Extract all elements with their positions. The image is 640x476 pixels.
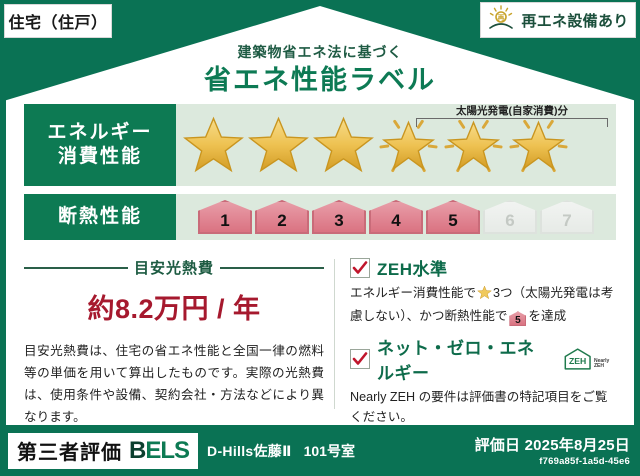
insulation-level-3: 3 [312,200,366,234]
insulation-performance-label: 断熱性能 [24,194,176,240]
renewable-equipment-label: 再エネ設備あり [521,10,628,31]
check-item-net-zero-energy: ネット・ゼロ・エネルギー ZEH Nearly ZEH Nearly ZEH の… [350,334,616,428]
insulation-performance-row: 断熱性能 1 2 3 4 5 6 7 [24,194,616,240]
insulation-levels-band: 1 2 3 4 5 6 7 [176,194,616,240]
lower-section: 目安光熱費 約8.2万円 / 年 目安光熱費は、住宅の省エネ性能と全国一律の燃料… [24,255,616,415]
rule-left [24,267,128,269]
star-icon-solar [507,113,570,177]
svg-text:再: 再 [498,14,505,22]
insulation-level-4: 4 [369,200,423,234]
house-type-label: 住宅（住戸） [8,9,107,33]
energy-star-group [176,113,616,177]
rating-rows: エネルギー 消費性能 太陽光発電(自家消費)分 [24,104,616,240]
check-body-part3: を達成 [528,309,566,323]
check-line: ネット・ゼロ・エネルギー ZEH Nearly ZEH [350,334,616,384]
utility-cost-note: 目安光熱費は、住宅の省エネ性能と全国一律の燃料等の単価を用いて算出したものです。… [24,340,324,428]
bels-letter-b: B [129,437,145,464]
energy-performance-label: エネルギー 消費性能 [24,104,176,186]
zeh-house-icon: ZEH Nearly ZEH [562,345,616,373]
insulation-level-1: 1 [198,200,252,234]
bels-energy-label: AQUA 住宅（住戸） 再 再エネ設備あり 建築物省エネ法に基づく 省エネ性能ラ… [0,0,640,476]
renewable-equipment-badge: 再 再エネ設備あり [480,2,636,38]
insulation-level-5: 5 [426,200,480,234]
evaluation-info: 評価日 2025年8月25日 f769a85f-1a5d-45e6 [475,434,630,467]
utility-cost-heading: 目安光熱費 [24,257,324,278]
check-line: ZEH水準 [350,255,616,280]
room-number: 101号室 [304,441,355,461]
star-icon [182,113,245,177]
checkbox-checked-icon [350,349,370,369]
building-name: D-Hills佐藤Ⅱ [207,441,292,461]
label-title: 省エネ性能ラベル [0,58,640,97]
house-type-badge: 住宅（住戸） [4,4,112,38]
evaluation-date-label: 評価日 [475,437,521,454]
sun-renewable-icon: 再 [487,5,515,36]
check-body: Nearly ZEH の要件は評価書の特記項目をご覧ください。 [350,387,616,428]
insulation-level-2: 2 [255,200,309,234]
star-icon [477,289,492,303]
vertical-divider [334,259,335,409]
check-title: ZEH水準 [377,255,448,280]
check-title: ネット・ゼロ・エネルギー [377,334,551,384]
star-icon-solar [377,113,440,177]
checkbox-checked-icon [350,258,370,278]
evaluation-date: 評価日 2025年8月25日 [475,434,630,455]
insulation-level-inline: 5 [509,311,526,326]
insulation-level-6: 6 [483,200,537,234]
evaluation-id: f769a85f-1a5d-45e6 [475,456,630,467]
energy-performance-row: エネルギー 消費性能 太陽光発電(自家消費)分 [24,104,616,186]
bels-letters-els: ELS [145,437,189,464]
utility-cost-label: 目安光熱費 [134,257,214,278]
utility-cost-block: 目安光熱費 約8.2万円 / 年 目安光熱費は、住宅の省エネ性能と全国一律の燃料… [24,255,324,415]
evaluation-date-value: 2025年8月25日 [525,437,630,454]
check-item-zeh-suijun: ZEH水準 エネルギー消費性能で3つ（太陽光発電は考慮しない）、かつ断熱性能で5… [350,255,616,327]
insulation-level-group: 1 2 3 4 5 6 7 [176,200,594,234]
star-icon [247,113,310,177]
zeh-badge-sub: Nearly ZEH [594,359,616,373]
certification-checks: ZEH水準 エネルギー消費性能で3つ（太陽光発電は考慮しない）、かつ断熱性能で5… [350,255,616,430]
rule-right [220,267,324,269]
bels-wordmark: BELS [129,437,189,465]
third-party-eval-label: 第三者評価 [17,436,122,465]
svg-text:ZEH: ZEH [569,356,586,366]
star-icon-solar [442,113,505,177]
energy-stars-band: 太陽光発電(自家消費)分 [176,104,616,186]
star-icon [312,113,375,177]
check-body-part1: エネルギー消費性能で [350,286,476,300]
bels-logo: 第三者評価 BELS [8,433,198,469]
footer-bar: 第三者評価 BELS D-Hills佐藤Ⅱ 101号室 評価日 2025年8月2… [0,425,640,476]
utility-cost-value: 約8.2万円 / 年 [24,287,324,326]
insulation-level-7: 7 [540,200,594,234]
check-body: エネルギー消費性能で3つ（太陽光発電は考慮しない）、かつ断熱性能で5を達成 [350,283,616,327]
